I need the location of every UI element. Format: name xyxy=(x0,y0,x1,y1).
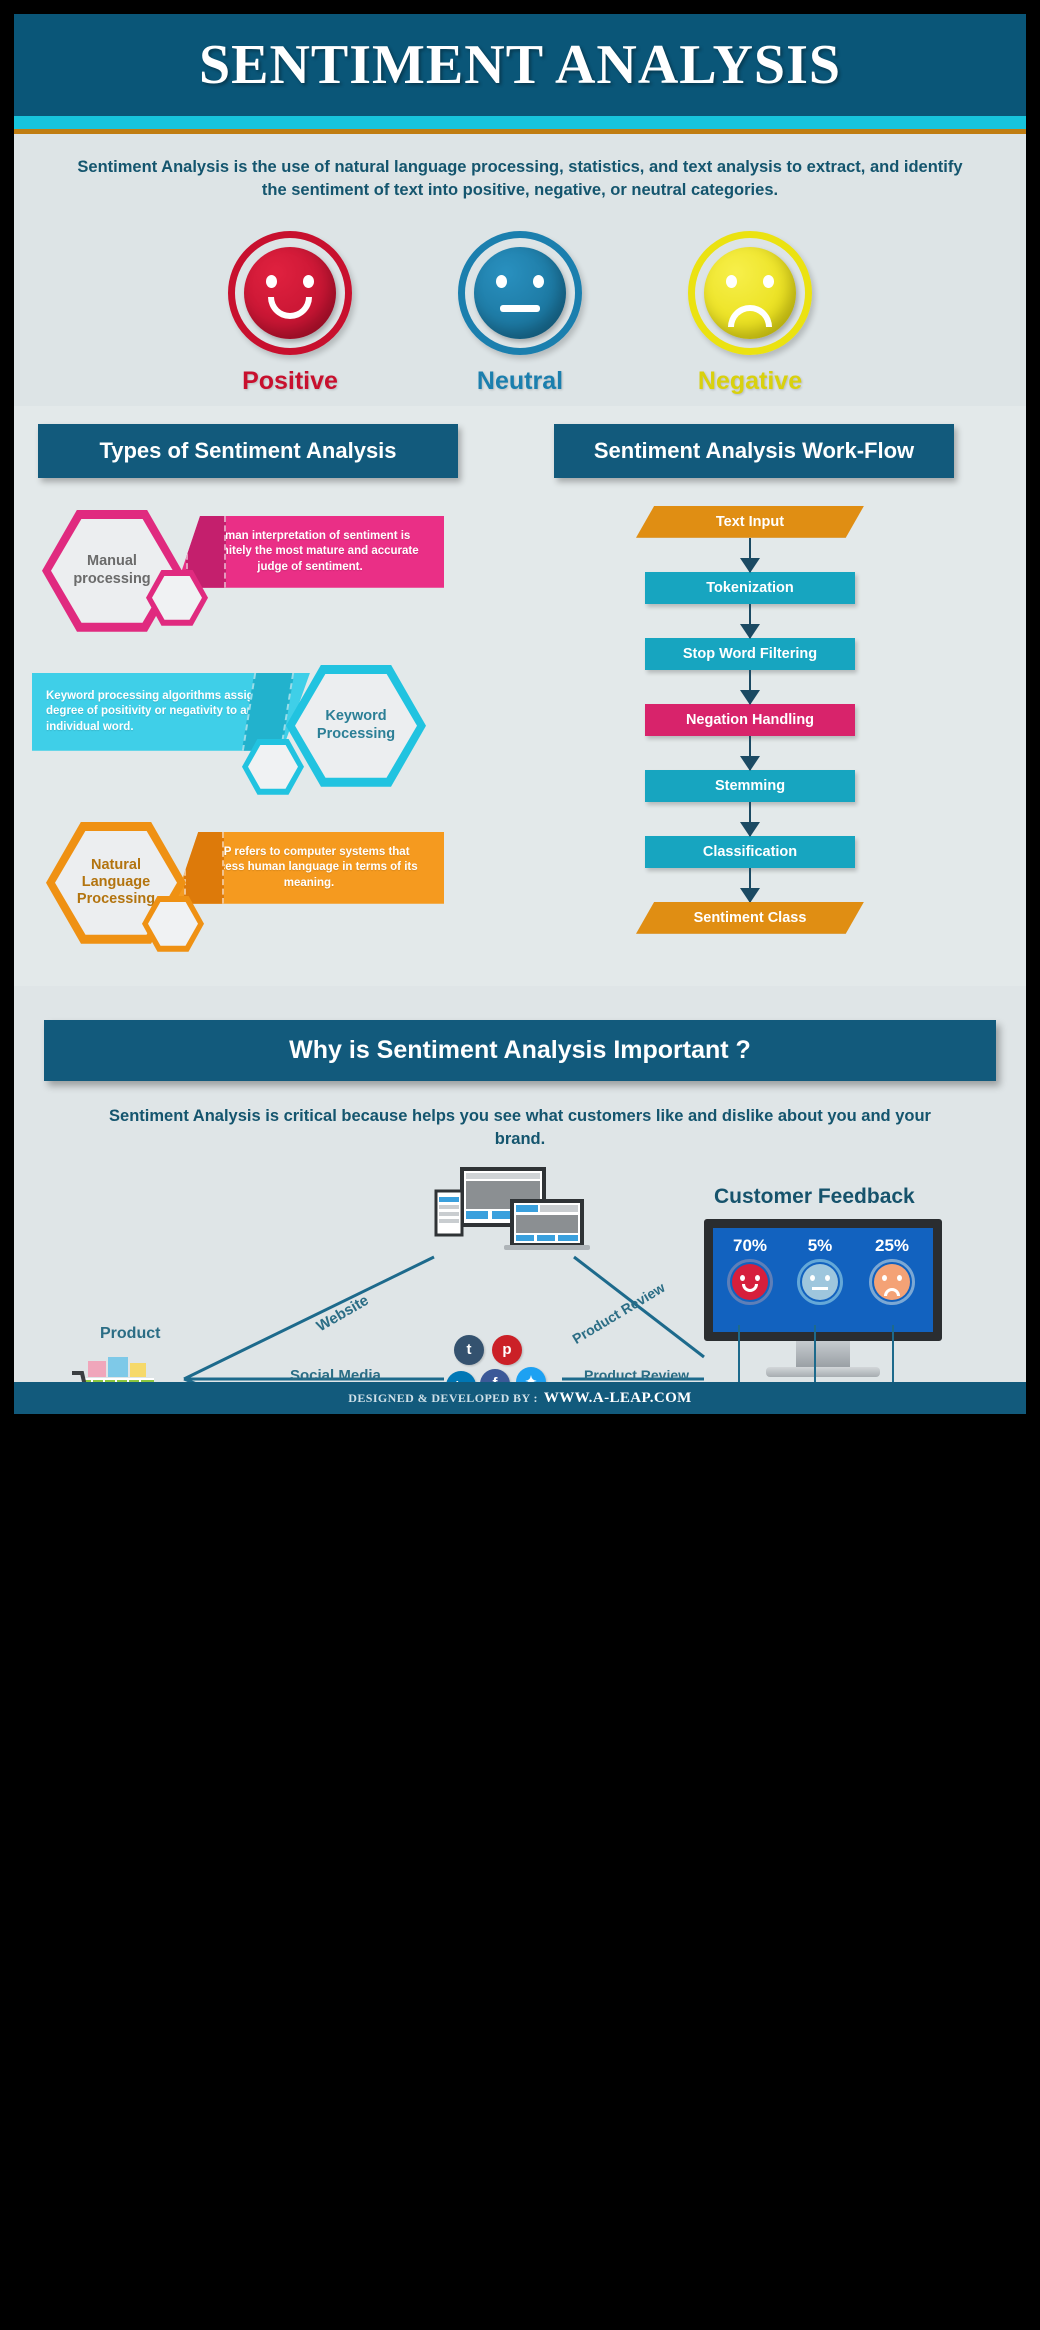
types-list: Human interpretation of sentiment is def… xyxy=(24,506,474,986)
mid-two-column: Types of Sentiment Analysis Human interp… xyxy=(14,406,1026,986)
mini-smiley-happy-icon xyxy=(727,1259,773,1305)
product-review-label-2: Product Review xyxy=(584,1367,689,1383)
feedback-neutral: 5% xyxy=(789,1236,851,1305)
type-desc-nlp: NLP refers to computer systems that proc… xyxy=(174,832,444,904)
monitor-screen: 70% 5% 25% xyxy=(704,1219,942,1341)
why-subtitle: Sentiment Analysis is critical because h… xyxy=(14,1081,1026,1151)
flow-arrow xyxy=(474,604,1026,638)
feedback-positive: 70% xyxy=(719,1236,781,1305)
type-item-keyword: Keyword processing algorithms assign a d… xyxy=(24,661,484,801)
flow-step-classification: Classification xyxy=(645,836,855,868)
sentiment-face-positive: Positive xyxy=(210,231,370,396)
types-column: Types of Sentiment Analysis Human interp… xyxy=(14,424,474,986)
devices-icon xyxy=(434,1167,584,1247)
workflow-flowchart: Text Input Tokenization Stop Word Filter… xyxy=(474,506,1026,934)
feedback-pct-neutral: 5% xyxy=(789,1236,851,1256)
mini-smiley-neutral-icon xyxy=(797,1259,843,1305)
smiley-sad-icon xyxy=(688,231,812,355)
face-label-negative: Negative xyxy=(670,367,830,396)
footer-site-url[interactable]: WWW.A-LEAP.COM xyxy=(544,1390,692,1407)
hexagon-icon: Keyword Processing xyxy=(286,665,426,787)
why-important-banner: Why is Sentiment Analysis Important ? xyxy=(44,1020,996,1081)
type-desc-manual: Human interpretation of sentiment is def… xyxy=(176,516,444,588)
product-label: Product xyxy=(100,1325,160,1343)
flow-arrow xyxy=(474,538,1026,572)
feedback-diagram: Product xyxy=(14,1157,1026,1414)
flow-step-negation-handling: Negation Handling xyxy=(645,704,855,736)
flow-step-stop-word-filtering: Stop Word Filtering xyxy=(645,638,855,670)
page-title: SENTIMENT ANALYSIS xyxy=(199,33,841,97)
ribbon-fold xyxy=(184,832,224,904)
footer-designed-by: DESIGNED & DEVELOPED BY : xyxy=(348,1391,538,1406)
infographic-poster: SENTIMENT ANALYSIS Sentiment Analysis is… xyxy=(14,14,1026,1414)
type-item-manual: Human interpretation of sentiment is def… xyxy=(24,506,484,646)
mini-smiley-sad-icon xyxy=(869,1259,915,1305)
face-label-positive: Positive xyxy=(210,367,370,396)
face-label-neutral: Neutral xyxy=(440,367,600,396)
intro-text: Sentiment Analysis is the use of natural… xyxy=(66,156,974,203)
feedback-pct-negative: 25% xyxy=(861,1236,923,1256)
workflow-column: Sentiment Analysis Work-Flow Text Input … xyxy=(474,424,1026,986)
teal-accent-bar xyxy=(14,116,1026,129)
workflow-section-title: Sentiment Analysis Work-Flow xyxy=(554,424,954,478)
flow-step-stemming: Stemming xyxy=(645,770,855,802)
customer-feedback-title: Customer Feedback xyxy=(714,1185,915,1209)
types-section-title: Types of Sentiment Analysis xyxy=(38,424,458,478)
flow-arrow xyxy=(474,736,1026,770)
pinterest-icon[interactable]: p xyxy=(492,1335,522,1365)
footer-bar: DESIGNED & DEVELOPED BY : WWW.A-LEAP.COM xyxy=(14,1382,1026,1414)
intro-section: Sentiment Analysis is the use of natural… xyxy=(14,134,1026,211)
type-desc-text: NLP refers to computer systems that proc… xyxy=(188,845,430,892)
type-item-nlp: NLP refers to computer systems that proc… xyxy=(24,818,484,958)
flow-step-sentiment-class: Sentiment Class xyxy=(636,902,864,934)
feedback-pct-positive: 70% xyxy=(719,1236,781,1256)
flow-arrow xyxy=(474,802,1026,836)
flow-arrow xyxy=(474,670,1026,704)
sentiment-face-neutral: Neutral xyxy=(440,231,600,396)
smiley-neutral-icon xyxy=(458,231,582,355)
monitor-base xyxy=(766,1367,880,1377)
header-banner: SENTIMENT ANALYSIS xyxy=(14,14,1026,116)
feedback-negative: 25% xyxy=(861,1236,923,1305)
monitor-stand xyxy=(796,1341,850,1367)
type-name-keyword: Keyword Processing xyxy=(295,674,417,778)
smiley-happy-icon xyxy=(228,231,352,355)
sentiment-face-negative: Negative xyxy=(670,231,830,396)
flow-step-tokenization: Tokenization xyxy=(645,572,855,604)
tumblr-icon[interactable]: t xyxy=(454,1335,484,1365)
flow-step-text-input: Text Input xyxy=(636,506,864,538)
sentiment-faces-row: Positive Neutral Negative xyxy=(14,211,1026,406)
type-desc-text: Human interpretation of sentiment is def… xyxy=(190,529,430,576)
flow-arrow xyxy=(474,868,1026,902)
